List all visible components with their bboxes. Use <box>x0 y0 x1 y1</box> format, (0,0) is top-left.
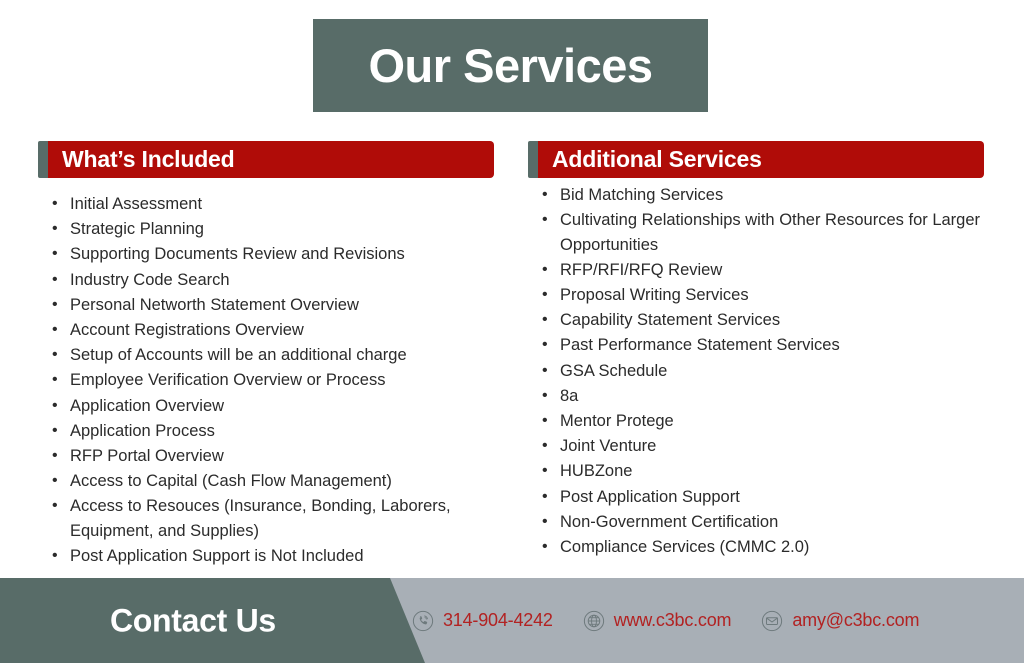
list-item: Application Overview <box>68 394 520 418</box>
list-item: Joint Venture <box>558 434 1010 458</box>
list-item: RFP/RFI/RFQ Review <box>558 258 1010 282</box>
list-item: Initial Assessment <box>68 192 520 216</box>
list-item: Cultivating Relationships with Other Res… <box>558 208 1010 257</box>
services-list-whats-included: Initial Assessment Strategic Planning Su… <box>42 192 520 569</box>
header-accent-bar <box>528 141 538 178</box>
contact-website[interactable]: www.c3bc.com <box>583 610 732 632</box>
website-url: www.c3bc.com <box>614 610 732 631</box>
list-item: Access to Resouces (Insurance, Bonding, … <box>68 494 520 543</box>
list-item: Bid Matching Services <box>558 183 1010 207</box>
list-item: Access to Capital (Cash Flow Management) <box>68 469 520 493</box>
list-item: 8a <box>558 384 1010 408</box>
email-icon <box>761 610 783 632</box>
list-item: Setup of Accounts will be an additional … <box>68 343 520 367</box>
contact-info-row: 314-904-4242 www.c3bc.com amy@c3bc.com <box>412 610 919 632</box>
list-item: RFP Portal Overview <box>68 444 520 468</box>
list-item: Industry Code Search <box>68 268 520 292</box>
list-item: HUBZone <box>558 459 1010 483</box>
contact-email[interactable]: amy@c3bc.com <box>761 610 919 632</box>
phone-icon <box>412 610 434 632</box>
list-item: Post Application Support is Not Included <box>68 544 520 568</box>
column-header-additional-services: Additional Services <box>528 141 984 178</box>
list-item: Capability Statement Services <box>558 308 1010 332</box>
column-header-whats-included: What’s Included <box>38 141 494 178</box>
list-item: Mentor Protege <box>558 409 1010 433</box>
header-bar: Additional Services <box>538 141 984 178</box>
header-accent-bar <box>38 141 48 178</box>
list-item: Strategic Planning <box>68 217 520 241</box>
list-item: Personal Networth Statement Overview <box>68 293 520 317</box>
contact-phone[interactable]: 314-904-4242 <box>412 610 553 632</box>
email-address: amy@c3bc.com <box>792 610 919 631</box>
list-item: Non-Government Certification <box>558 510 1010 534</box>
globe-icon <box>583 610 605 632</box>
column-header-label: Additional Services <box>552 146 762 173</box>
column-header-label: What’s Included <box>62 146 235 173</box>
list-item: Past Performance Statement Services <box>558 333 1010 357</box>
phone-number: 314-904-4242 <box>443 610 553 631</box>
list-item: Compliance Services (CMMC 2.0) <box>558 535 1010 559</box>
contact-footer: Contact Us 314-904-4242 www.c3bc.com <box>0 578 1024 663</box>
services-list-additional-services: Bid Matching Services Cultivating Relati… <box>532 183 1010 560</box>
header-bar: What’s Included <box>48 141 494 178</box>
list-item: Account Registrations Overview <box>68 318 520 342</box>
list-item: GSA Schedule <box>558 359 1010 383</box>
contact-us-title: Contact Us <box>110 602 276 639</box>
page-title-banner: Our Services <box>313 19 708 112</box>
list-item: Proposal Writing Services <box>558 283 1010 307</box>
list-item: Employee Verification Overview or Proces… <box>68 368 520 392</box>
list-item: Supporting Documents Review and Revision… <box>68 242 520 266</box>
list-item: Application Process <box>68 419 520 443</box>
page-title: Our Services <box>368 42 652 89</box>
list-item: Post Application Support <box>558 485 1010 509</box>
